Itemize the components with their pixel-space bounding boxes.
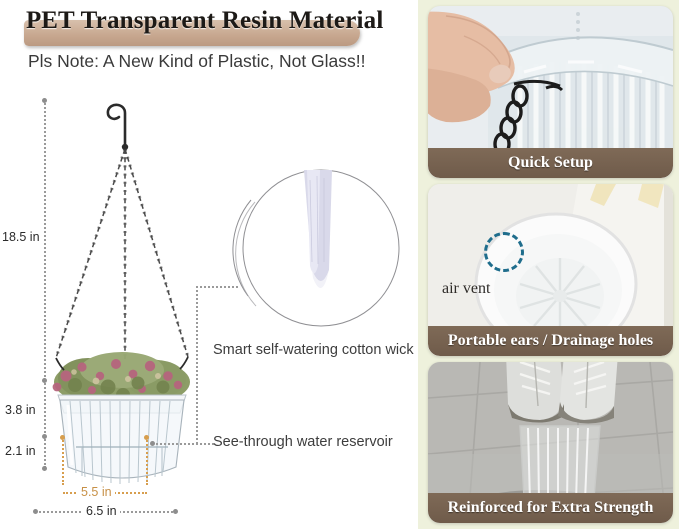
air-vent-label: air vent	[442, 280, 490, 298]
top-width-tick-right	[173, 509, 178, 514]
feature-cards-column: Quick Setup	[418, 0, 679, 529]
ribbed-transparent-pot	[58, 395, 186, 484]
chain-right	[125, 149, 188, 357]
caption-quick-setup: Quick Setup	[428, 148, 673, 178]
wick-magnifier	[228, 166, 414, 346]
base-width-tick-right	[144, 435, 149, 440]
product-diagram-panel: PET Transparent Resin Material Pls Note:…	[0, 0, 418, 529]
caption-portable-ears: Portable ears / Drainage holes	[428, 326, 673, 356]
dimension-tick-mid-upper	[42, 378, 47, 383]
dimension-reservoir-height: 2.1 in	[5, 444, 36, 458]
title-rest: Transparent Resin Material	[75, 7, 384, 34]
dimension-base-width: 5.5 in	[78, 485, 115, 499]
caption-reinforced: Reinforced for Extra Strength	[428, 493, 673, 523]
dimension-top-width: 6.5 in	[83, 504, 120, 518]
leader-tick-pot-bottom	[150, 441, 155, 446]
dimension-tick-bottom	[42, 466, 47, 471]
dimension-pot-body-height: 3.8 in	[5, 403, 36, 417]
dimension-tick-top	[42, 98, 47, 103]
top-width-tick-left	[33, 509, 38, 514]
hanging-planter-illustration	[30, 95, 220, 495]
dimension-line-vertical	[44, 100, 46, 468]
base-width-tick-left	[60, 435, 65, 440]
annotation-leader-vertical	[196, 286, 198, 444]
caption-text: Reinforced for Extra Strength	[448, 499, 654, 517]
annotation-water-reservoir: See-through water reservoir	[213, 434, 393, 450]
feature-card-portable-ears[interactable]: air vent Portable ears / Drainage holes	[428, 184, 673, 356]
base-width-line-right	[146, 437, 148, 485]
page-subtitle: Pls Note: A New Kind of Plastic, Not Gla…	[28, 51, 408, 72]
ceiling-hook-icon	[108, 105, 125, 145]
dimension-total-height: 18.5 in	[2, 230, 40, 244]
feature-card-quick-setup[interactable]: Quick Setup	[428, 6, 673, 178]
caption-text: Portable ears / Drainage holes	[448, 332, 653, 350]
dimension-tick-mid-lower	[42, 434, 47, 439]
feature-card-reinforced[interactable]: Reinforced for Extra Strength	[428, 362, 673, 523]
infographic-root: PET Transparent Resin Material Pls Note:…	[0, 0, 679, 529]
annotation-leader-bottom	[176, 443, 198, 445]
base-width-line-left	[62, 437, 64, 485]
page-title: PET Transparent Resin Material	[26, 6, 396, 35]
caption-text: Quick Setup	[508, 154, 593, 172]
annotation-leader-top	[196, 286, 238, 288]
air-vent-marker-icon	[484, 232, 524, 272]
chain-left	[56, 149, 125, 358]
title-pet-prefix: PET	[26, 7, 75, 34]
annotation-cotton-wick: Smart self-watering cotton wick	[213, 342, 414, 358]
